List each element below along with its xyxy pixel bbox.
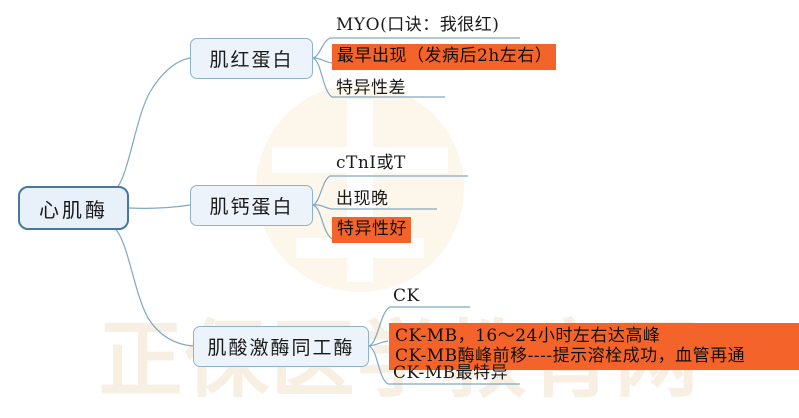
branch-node-2[interactable]: 肌钙蛋白 xyxy=(190,185,313,226)
branch-node-3-label: 肌酸激酶同工酶 xyxy=(207,333,354,360)
root-node[interactable]: 心肌酶 xyxy=(18,186,129,230)
leaf-3-3[interactable]: CK-MB最特异 xyxy=(390,362,511,386)
leaf-3-2-line-1: CK-MB，16～24小时左右达高峰 xyxy=(395,326,795,346)
leaf-1-3[interactable]: 特异性差 xyxy=(333,77,409,101)
branch-node-2-label: 肌钙蛋白 xyxy=(209,192,293,219)
mindmap-canvas: 正保医学教育网 心肌酶 xyxy=(0,0,799,414)
node-layer: 心肌酶 肌红蛋白 肌钙蛋白 肌酸激酶同工酶 MYO(口诀：我很红) 最早出现（发… xyxy=(0,0,799,414)
leaf-2-1[interactable]: cTnI或T xyxy=(333,152,409,176)
leaf-1-2[interactable]: 最早出现（发病后2h左右） xyxy=(332,44,556,70)
branch-node-3[interactable]: 肌酸激酶同工酶 xyxy=(193,326,369,367)
branch-node-1-label: 肌红蛋白 xyxy=(209,45,293,72)
leaf-3-1[interactable]: CK xyxy=(390,285,423,309)
branch-node-1[interactable]: 肌红蛋白 xyxy=(190,38,313,79)
leaf-2-2[interactable]: 出现晚 xyxy=(333,188,392,212)
leaf-2-3[interactable]: 特异性好 xyxy=(332,217,411,243)
leaf-1-1[interactable]: MYO(口诀：我很红) xyxy=(333,14,502,38)
root-node-label: 心肌酶 xyxy=(39,194,108,223)
